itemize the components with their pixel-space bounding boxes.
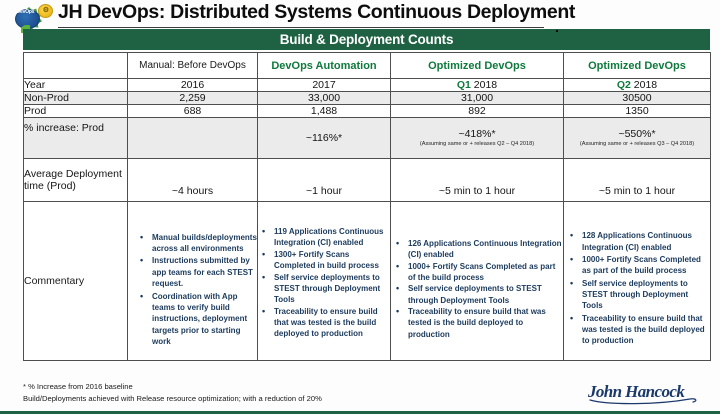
commentary-manual: Manual builds/deployments across all env…	[128, 202, 258, 361]
commentary-q2-list: 128 Applications Continuous Integration …	[564, 230, 710, 347]
list-item: Coordination with App teams to verify bu…	[150, 291, 257, 348]
list-item: 1000+ Fortify Scans Completed as part of…	[580, 254, 710, 277]
cell-year-automation: 2017	[258, 79, 391, 92]
cell-pct-q1-note: (Assuming same or + releases Q2 – Q4 201…	[391, 141, 563, 148]
banner-artifact-dot	[556, 30, 558, 32]
commentary-automation-list: 119 Applications Continuous Integration …	[258, 226, 390, 339]
cell-prod-q2: 1350	[564, 105, 711, 118]
cell-prod-automation: 1,488	[258, 105, 391, 118]
cell-prod-q1: 892	[391, 105, 564, 118]
cell-pct-q2-value: ~550%*	[618, 128, 655, 140]
cell-avg-manual: ~4 hours	[128, 159, 258, 202]
list-item: Manual builds/deployments across all env…	[150, 232, 257, 255]
row-label-non-prod: Non-Prod	[24, 92, 128, 105]
list-item: Self service deployments to STEST throug…	[272, 272, 390, 305]
list-item: Self service deployments to STEST throug…	[580, 278, 710, 312]
cell-year-manual: 2016	[128, 79, 258, 92]
row-label-year: Year	[24, 79, 128, 92]
row-label-commentary: Commentary	[24, 202, 128, 361]
title-underline	[58, 27, 544, 28]
cell-nonprod-q1: 31,000	[391, 92, 564, 105]
cell-year-q1: Q1 2018	[391, 79, 564, 92]
row-label-avg-deploy: Average Deployment time (Prod)	[24, 159, 128, 202]
section-banner: Build & Deployment Counts	[23, 29, 710, 50]
footnotes: * % Increase from 2016 baseline Build/De…	[23, 381, 322, 405]
table-header-row: Manual: Before DevOps DevOps Automation …	[24, 53, 711, 79]
list-item: Instructions submitted by app teams for …	[150, 255, 257, 289]
cell-avg-q2: ~5 min to 1 hour	[564, 159, 711, 202]
cell-year-q1-year: 2018	[471, 79, 497, 91]
commentary-q1: 126 Applications Continuous Integration …	[391, 202, 564, 361]
svg-text:John Hancock: John Hancock	[587, 382, 685, 401]
cell-nonprod-automation: 33,000	[258, 92, 391, 105]
row-label-prod: Prod	[24, 105, 128, 118]
cell-year-q2: Q2 2018	[564, 79, 711, 92]
table-row-year: Year 2016 2017 Q1 2018 Q2 2018	[24, 79, 711, 92]
list-item: Self service deployments to STEST throug…	[406, 283, 563, 306]
list-item: 119 Applications Continuous Integration …	[272, 226, 390, 248]
list-item: 1300+ Fortify Scans Completed in build p…	[272, 249, 390, 271]
header-cell-optimized-q1: Optimized DevOps	[391, 53, 564, 79]
slide-canvas: DevOps ⚙ JH DevOps: Distributed Systems …	[0, 0, 720, 414]
title-row: DevOps ⚙ JH DevOps: Distributed Systems …	[0, 0, 720, 30]
list-item: Traceability to ensure build that was te…	[406, 306, 563, 340]
cell-prod-manual: 688	[128, 105, 258, 118]
header-cell-optimized-q2: Optimized DevOps	[564, 53, 711, 79]
cell-nonprod-manual: 2,259	[128, 92, 258, 105]
metrics-table: Manual: Before DevOps DevOps Automation …	[23, 52, 711, 361]
list-item: Traceability to ensure build that was te…	[580, 313, 710, 347]
list-item: 1000+ Fortify Scans Completed as part of…	[406, 261, 563, 284]
john-hancock-logo: John Hancock	[586, 378, 706, 406]
footnote-line-2: Build/Deployments achieved with Release …	[23, 393, 322, 405]
cell-year-q2-year: 2018	[631, 79, 657, 91]
list-item: 126 Applications Continuous Integration …	[406, 238, 563, 261]
logo-gear-glyph: ⚙	[43, 6, 49, 14]
header-cell-manual: Manual: Before DevOps	[128, 53, 258, 79]
cell-avg-automation: ~1 hour	[258, 159, 391, 202]
row-label-pct-increase: % increase: Prod	[24, 118, 128, 159]
cell-pct-q1: ~418%* (Assuming same or + releases Q2 –…	[391, 118, 564, 159]
list-item: 128 Applications Continuous Integration …	[580, 230, 710, 253]
commentary-q1-list: 126 Applications Continuous Integration …	[393, 238, 563, 340]
table-row-avg-deploy: Average Deployment time (Prod) ~4 hours …	[24, 159, 711, 202]
commentary-manual-list: Manual builds/deployments across all env…	[128, 232, 257, 348]
table-row-non-prod: Non-Prod 2,259 33,000 31,000 30500	[24, 92, 711, 105]
cell-pct-q1-value: ~418%*	[458, 128, 495, 140]
list-item: Traceability to ensure build that was te…	[272, 306, 390, 339]
cell-year-q1-quarter: Q1	[457, 79, 471, 91]
commentary-automation: 119 Applications Continuous Integration …	[258, 202, 391, 361]
logo-disc-label: DevOps	[13, 9, 38, 15]
cell-pct-q2: ~550%* (Assuming same or + releases Q3 –…	[564, 118, 711, 159]
cell-pct-q2-note: (Assuming same or + releases Q3 – Q4 201…	[564, 141, 710, 148]
header-cell-blank	[24, 53, 128, 79]
commentary-q2: 128 Applications Continuous Integration …	[564, 202, 711, 361]
cell-year-q2-quarter: Q2	[617, 79, 631, 91]
cell-nonprod-q2: 30500	[564, 92, 711, 105]
table-row-commentary: Commentary Manual builds/deployments acr…	[24, 202, 711, 361]
table-row-prod: Prod 688 1,488 892 1350	[24, 105, 711, 118]
header-cell-devops-automation: DevOps Automation	[258, 53, 391, 79]
cell-pct-automation: ~116%*	[258, 118, 391, 159]
cell-pct-automation-value: ~116%*	[306, 132, 342, 144]
cell-pct-manual	[128, 118, 258, 159]
page-title: JH DevOps: Distributed Systems Continuou…	[58, 1, 575, 24]
cell-avg-q1: ~5 min to 1 hour	[391, 159, 564, 202]
footnote-line-1: * % Increase from 2016 baseline	[23, 381, 322, 393]
table-row-pct-increase: % increase: Prod ~116%* ~418%* (Assuming…	[24, 118, 711, 159]
